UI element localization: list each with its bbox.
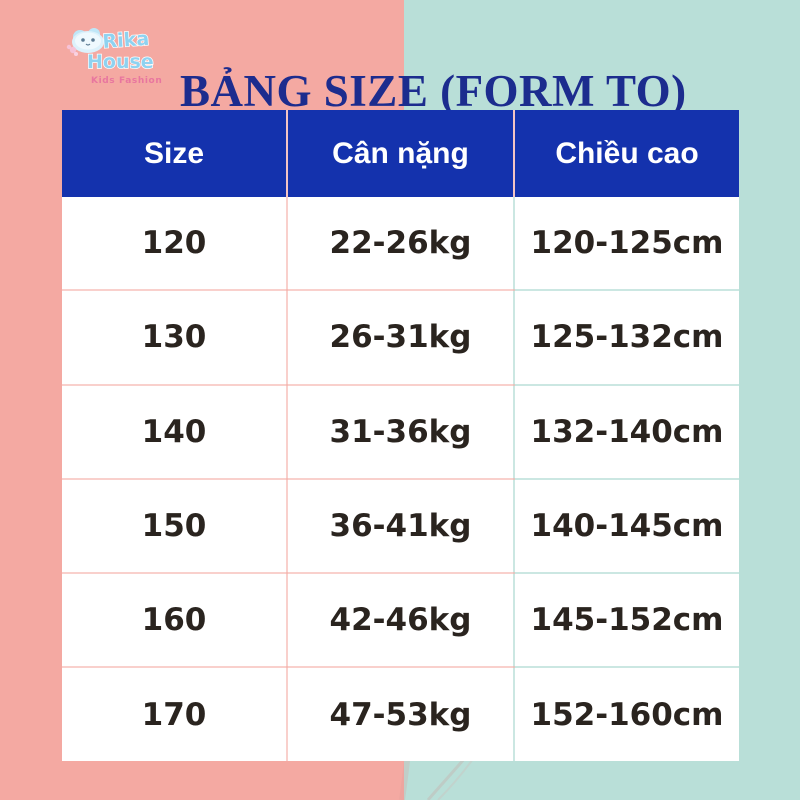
cell-size: 170 xyxy=(62,667,287,760)
table-header-row: Size Cân nặng Chiều cao xyxy=(62,110,739,197)
cell-weight: 22-26kg xyxy=(287,197,514,290)
cell-size: 130 xyxy=(62,290,287,384)
column-header-height: Chiều cao xyxy=(514,110,739,197)
cell-size: 120 xyxy=(62,197,287,290)
logo-tagline: Kids Fashion xyxy=(91,76,162,86)
cell-height: 120-125cm xyxy=(514,197,739,290)
table-row: 130 26-31kg 125-132cm xyxy=(62,290,739,384)
cell-weight: 31-36kg xyxy=(287,385,514,479)
logo-brand-line2: House xyxy=(87,51,154,73)
table-row: 140 31-36kg 132-140cm xyxy=(62,385,739,479)
logo-brand-line1: Rika xyxy=(102,28,150,53)
cell-weight: 36-41kg xyxy=(287,479,514,573)
cell-height: 140-145cm xyxy=(514,479,739,573)
cell-size: 160 xyxy=(62,573,287,667)
cell-size: 150 xyxy=(62,479,287,573)
cell-size: 140 xyxy=(62,385,287,479)
table-header: Size Cân nặng Chiều cao xyxy=(62,110,739,197)
cell-weight: 26-31kg xyxy=(287,290,514,384)
cell-weight: 47-53kg xyxy=(287,667,514,760)
cell-weight: 42-46kg xyxy=(287,573,514,667)
cell-height: 152-160cm xyxy=(514,667,739,760)
size-chart-table: Size Cân nặng Chiều cao 120 22-26kg 120-… xyxy=(62,110,739,761)
cell-height: 145-152cm xyxy=(514,573,739,667)
table-row: 170 47-53kg 152-160cm xyxy=(62,667,739,760)
cell-height: 132-140cm xyxy=(514,385,739,479)
page-root: Rika House Kids Fashion BẢNG SIZE (FORM … xyxy=(0,0,800,800)
table-row: 120 22-26kg 120-125cm xyxy=(62,197,739,290)
brand-logo: Rika House Kids Fashion xyxy=(63,26,168,92)
table-row: 150 36-41kg 140-145cm xyxy=(62,479,739,573)
table-row: 160 42-46kg 145-152cm xyxy=(62,573,739,667)
column-header-size: Size xyxy=(62,110,287,197)
cell-height: 125-132cm xyxy=(514,290,739,384)
table-body: 120 22-26kg 120-125cm 130 26-31kg 125-13… xyxy=(62,197,739,761)
column-header-weight: Cân nặng xyxy=(287,110,514,197)
